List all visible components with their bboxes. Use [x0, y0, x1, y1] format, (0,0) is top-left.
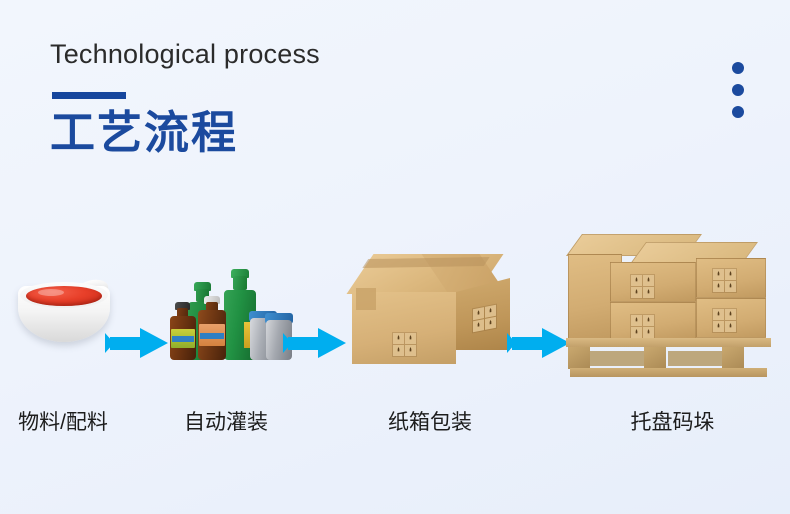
bottle-label	[171, 329, 195, 348]
sauce-bowl-icon	[4, 228, 122, 378]
this-way-up-icon	[725, 269, 736, 280]
stacking-limit-icon	[643, 327, 654, 338]
fragile-icon	[713, 309, 724, 320]
flow-stage-packaging: 纸箱包装	[330, 228, 530, 378]
amber-bottle	[198, 310, 226, 360]
flow-stage-label: 自动灌装	[166, 406, 286, 436]
this-way-up-icon	[405, 333, 416, 344]
page-subtitle-english: Technological process	[50, 40, 320, 70]
shipping-symbols-icon	[630, 314, 655, 339]
shipping-symbols-icon	[712, 268, 737, 293]
fragile-icon	[631, 275, 642, 286]
keep-dry-icon	[393, 345, 404, 356]
sauce-highlight	[38, 289, 64, 296]
flow-stage-label: 物料/配料	[4, 406, 122, 436]
carton-box-icon	[330, 228, 530, 378]
pallet-opening	[668, 351, 722, 366]
this-way-up-icon	[725, 309, 736, 320]
fragile-icon	[631, 315, 642, 326]
amber-bottle	[170, 316, 196, 360]
dot-icon	[732, 84, 744, 96]
page-header: Technological process 工艺流程	[50, 40, 320, 157]
page-title: 工艺流程	[50, 109, 320, 158]
carton-flap-tab	[356, 288, 376, 310]
pallet-bottom-board	[570, 368, 767, 377]
pallet-stack-icon	[560, 228, 785, 378]
stacking-limit-icon	[725, 281, 736, 292]
flow-stage-label: 纸箱包装	[330, 406, 530, 436]
shipping-symbols-icon	[392, 332, 417, 357]
keep-dry-icon	[473, 319, 484, 332]
sauce-liquid	[26, 286, 102, 306]
this-way-up-icon	[643, 315, 654, 326]
pallet-block	[644, 347, 666, 369]
stacking-limit-icon	[643, 287, 654, 298]
bottle-label	[199, 324, 225, 346]
pallet-block	[722, 347, 744, 369]
keep-dry-icon	[631, 287, 642, 298]
green-bottle-neck	[233, 276, 247, 290]
wooden-pallet	[566, 338, 771, 380]
dot-icon	[732, 106, 744, 118]
shipping-symbols-icon	[472, 304, 497, 334]
this-way-up-icon	[643, 275, 654, 286]
keep-dry-icon	[713, 281, 724, 292]
keep-dry-icon	[713, 321, 724, 332]
shipping-symbols-icon	[630, 274, 655, 299]
flow-stage-filling: 自动灌装	[166, 228, 286, 378]
bottles-group-icon	[166, 228, 286, 378]
stacking-limit-icon	[725, 321, 736, 332]
stacking-limit-icon	[485, 317, 496, 330]
flow-stage-palletizing: 托盘码垛	[560, 228, 785, 378]
keep-dry-icon	[631, 327, 642, 338]
stacking-limit-icon	[405, 345, 416, 356]
flow-stage-materials: 物料/配料	[4, 228, 122, 378]
fragile-icon	[393, 333, 404, 344]
pallet-block	[568, 347, 590, 369]
flow-stage-label: 托盘码垛	[560, 406, 785, 436]
dot-icon	[732, 62, 744, 74]
fragile-icon	[713, 269, 724, 280]
pallet-opening	[590, 351, 644, 366]
process-flow: 物料/配料	[0, 228, 790, 458]
title-underline-rule	[52, 92, 126, 99]
decorative-dots	[732, 62, 744, 118]
shipping-symbols-icon	[712, 308, 737, 333]
flow-arrow-icon	[110, 328, 168, 358]
pallet-deck-board	[566, 338, 771, 347]
